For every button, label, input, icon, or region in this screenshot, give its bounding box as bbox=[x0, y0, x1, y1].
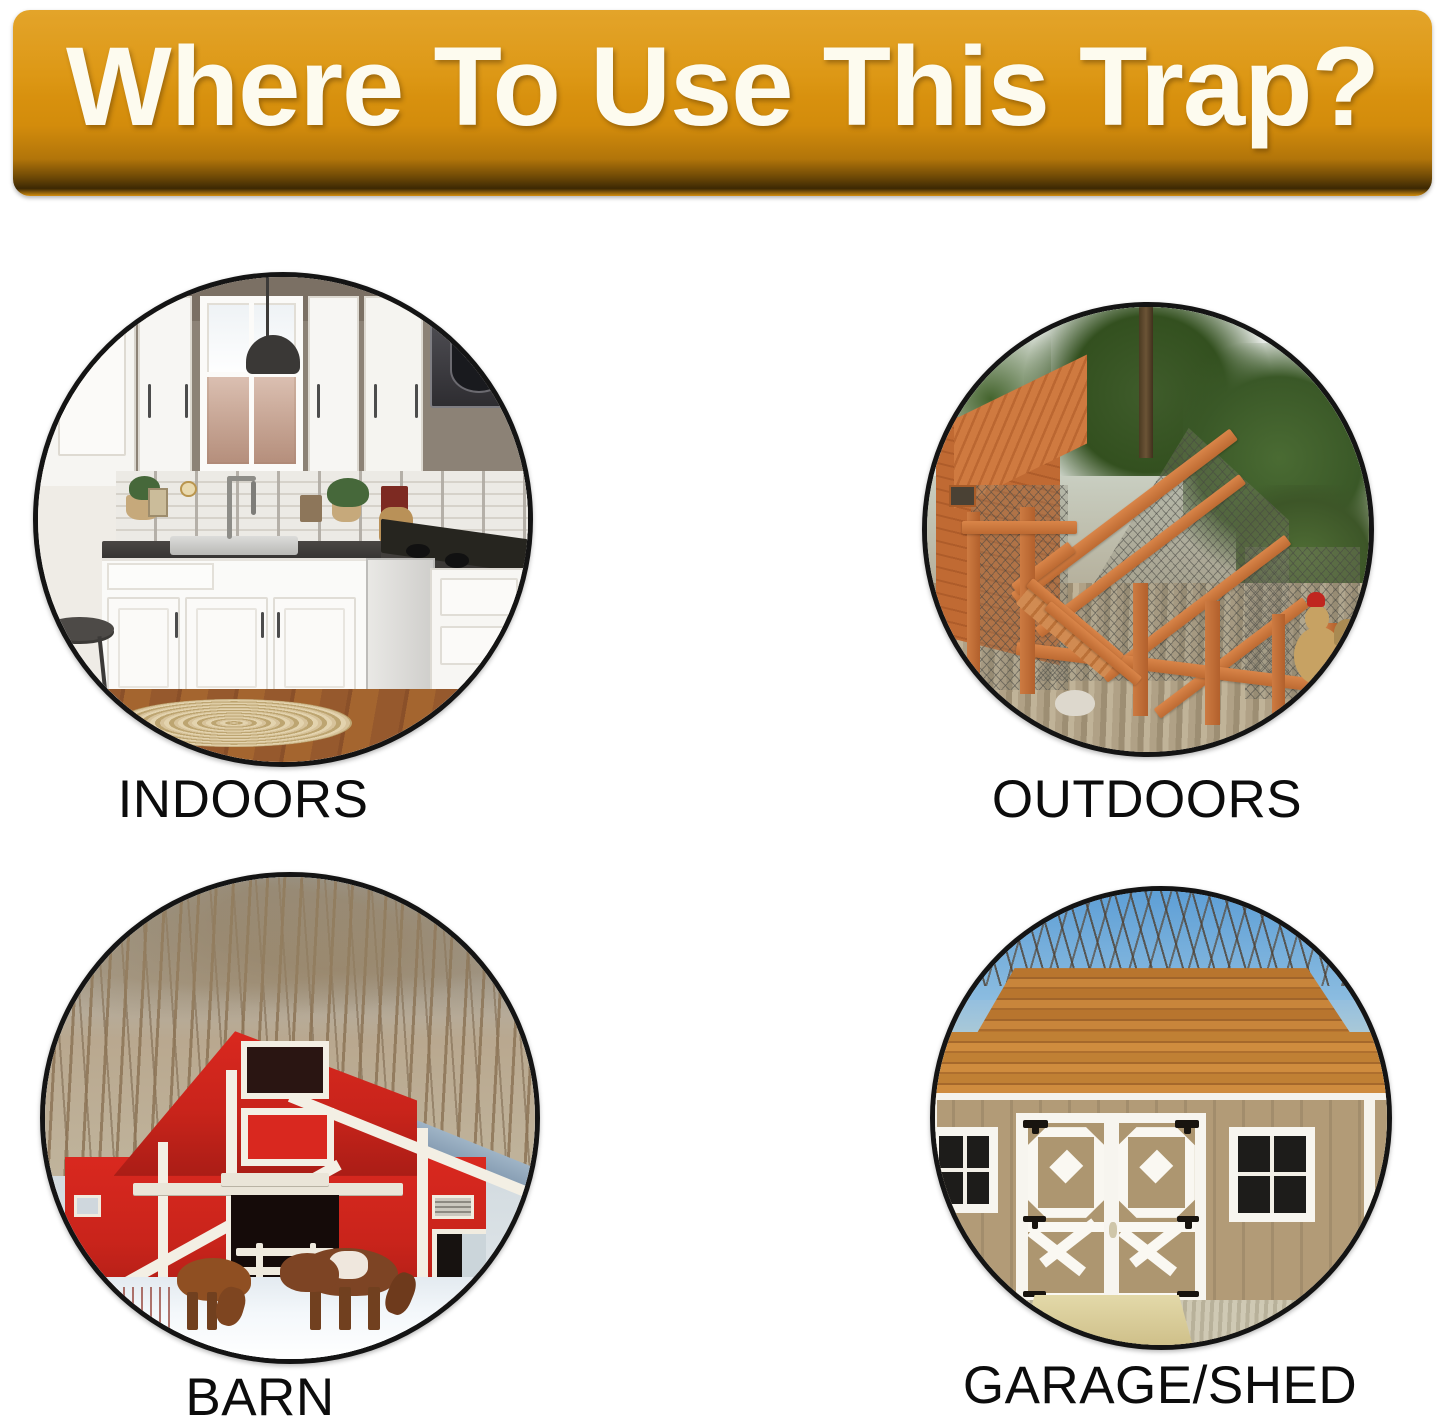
photo-outdoors bbox=[922, 302, 1374, 757]
photo-indoors bbox=[33, 272, 533, 767]
barn-scene bbox=[45, 877, 535, 1359]
shed-scene bbox=[935, 891, 1387, 1345]
kitchen-scene bbox=[38, 277, 528, 762]
caption-garage-shed: GARAGE/SHED bbox=[960, 1358, 1360, 1414]
chicken-coop-scene bbox=[927, 307, 1369, 752]
caption-barn: BARN bbox=[40, 1370, 480, 1420]
cell-garage-shed: GARAGE/SHED bbox=[930, 886, 1410, 1420]
page-title: Where To Use This Trap? bbox=[13, 28, 1432, 146]
caption-indoors: INDOORS bbox=[33, 772, 453, 828]
photo-barn bbox=[40, 872, 540, 1364]
cell-barn: BARN bbox=[40, 872, 550, 1420]
cell-outdoors: OUTDOORS bbox=[922, 302, 1392, 832]
caption-outdoors: OUTDOORS bbox=[982, 772, 1312, 828]
photo-garage-shed bbox=[930, 886, 1392, 1350]
cell-indoors: INDOORS bbox=[33, 272, 543, 832]
header-banner: Where To Use This Trap? bbox=[13, 10, 1432, 196]
page-root: Where To Use This Trap? bbox=[0, 0, 1445, 1420]
